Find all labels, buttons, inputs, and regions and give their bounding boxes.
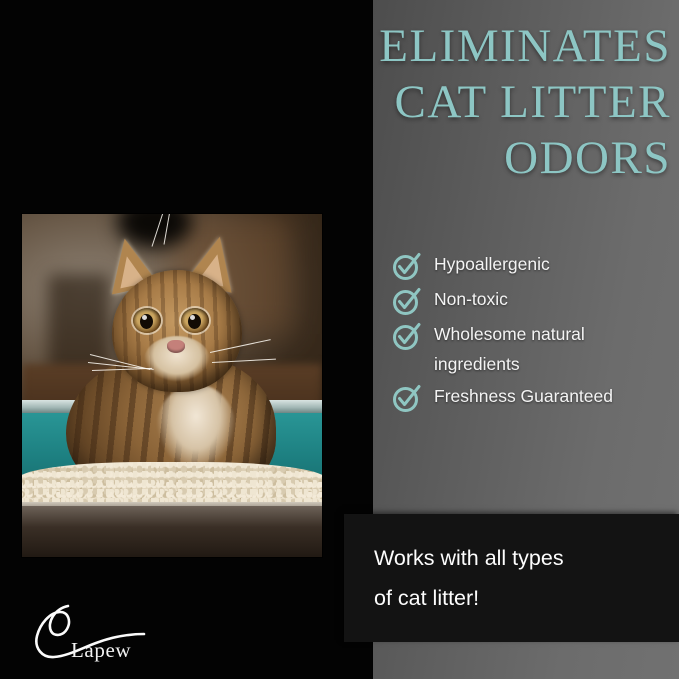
brand-logo: Lapew (24, 600, 184, 670)
feature-label: Wholesome natural ingredients (434, 319, 673, 379)
feature-list: Hypoallergenic Non-toxic Wholesome natur… (391, 249, 673, 416)
kitten-eye-glint-left (142, 315, 147, 320)
promo-line-2: of cat litter! (374, 578, 664, 618)
kitten-nose (167, 340, 185, 353)
feature-label: Non-toxic (434, 284, 508, 314)
check-circle-icon (391, 382, 423, 414)
product-ad-banner: ELIMINATES CAT LITTER ODORS (0, 0, 679, 679)
litter-tray-front (22, 506, 322, 557)
promo-line-1: Works with all types (374, 538, 664, 578)
headline-line-2: CAT LITTER (3, 74, 671, 130)
feature-label: Hypoallergenic (434, 249, 550, 279)
kitten (60, 236, 278, 498)
promo-callout-box: Works with all types of cat litter! (344, 514, 679, 642)
headline-line-3: ODORS (3, 130, 671, 186)
page-title: ELIMINATES CAT LITTER ODORS (3, 18, 671, 186)
headline-line-1: ELIMINATES (3, 18, 671, 74)
brand-name: Lapew (71, 638, 131, 663)
list-item: Freshness Guaranteed (391, 381, 673, 414)
promo-text: Works with all types of cat litter! (374, 538, 664, 618)
feature-label: Freshness Guaranteed (434, 381, 613, 411)
check-circle-icon (391, 250, 423, 282)
list-item: Wholesome natural ingredients (391, 319, 673, 379)
kitten-in-litter-box-photo (22, 214, 322, 557)
kitten-eye-glint-right (190, 315, 195, 320)
list-item: Non-toxic (391, 284, 673, 317)
check-circle-icon (391, 285, 423, 317)
check-circle-icon (391, 320, 423, 352)
list-item: Hypoallergenic (391, 249, 673, 282)
